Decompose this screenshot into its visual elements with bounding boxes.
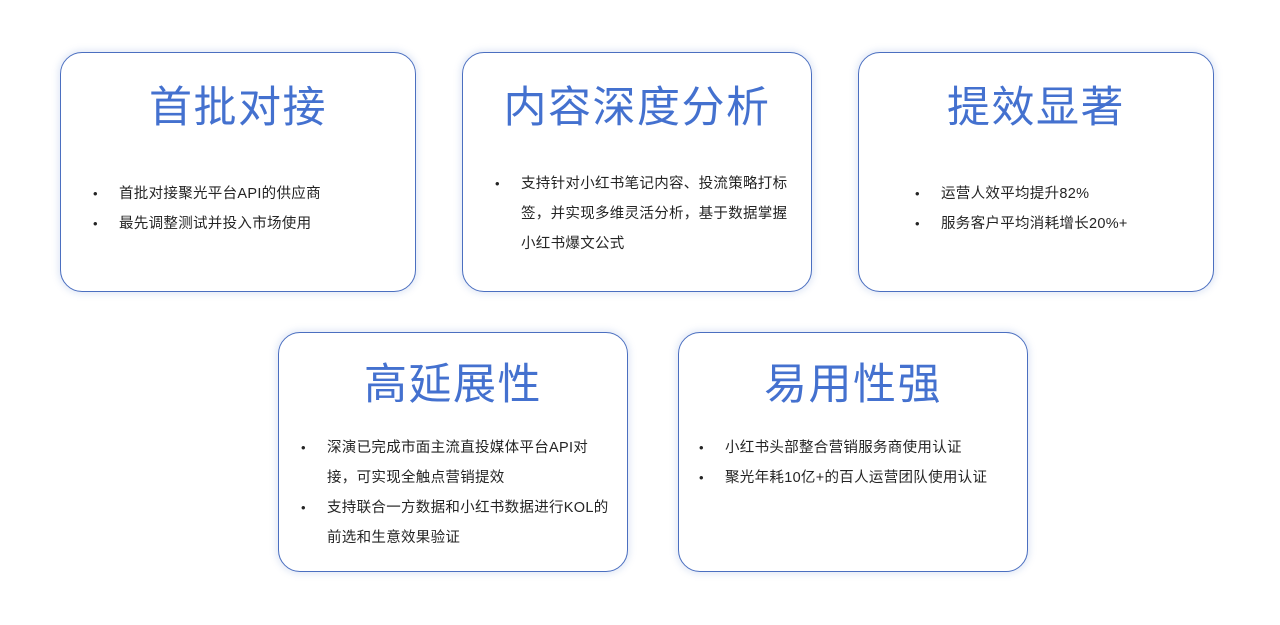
- list-item: 小红书头部整合营销服务商使用认证: [695, 433, 1015, 463]
- list-item: 最先调整测试并投入市场使用: [89, 209, 395, 239]
- feature-card-first-integration[interactable]: 首批对接 首批对接聚光平台API的供应商 最先调整测试并投入市场使用: [60, 52, 416, 292]
- card-bullet-list: 运营人效平均提升82% 服务客户平均消耗增长20%+: [911, 179, 1197, 239]
- card-title: 高延展性: [279, 363, 627, 408]
- card-bullet-list: 小红书头部整合营销服务商使用认证 聚光年耗10亿+的百人运营团队使用认证: [695, 433, 1015, 493]
- card-title: 首批对接: [61, 86, 415, 131]
- card-title: 内容深度分析: [463, 86, 811, 131]
- feature-card-efficiency-gain[interactable]: 提效显著 运营人效平均提升82% 服务客户平均消耗增长20%+: [858, 52, 1214, 292]
- list-item: 运营人效平均提升82%: [911, 179, 1197, 209]
- feature-card-ease-of-use[interactable]: 易用性强 小红书头部整合营销服务商使用认证 聚光年耗10亿+的百人运营团队使用认…: [678, 332, 1028, 572]
- card-bullet-list: 深演已完成市面主流直投媒体平台API对接，可实现全触点营销提效 支持联合一方数据…: [297, 433, 615, 553]
- card-title: 易用性强: [679, 363, 1027, 408]
- feature-card-content-depth-analysis[interactable]: 内容深度分析 支持针对小红书笔记内容、投流策略打标签，并实现多维灵活分析，基于数…: [462, 52, 812, 292]
- list-item: 服务客户平均消耗增长20%+: [911, 209, 1197, 239]
- slide-canvas: 首批对接 首批对接聚光平台API的供应商 最先调整测试并投入市场使用 内容深度分…: [0, 0, 1280, 625]
- list-item: 聚光年耗10亿+的百人运营团队使用认证: [695, 463, 1015, 493]
- feature-card-high-extensibility[interactable]: 高延展性 深演已完成市面主流直投媒体平台API对接，可实现全触点营销提效 支持联…: [278, 332, 628, 572]
- list-item: 首批对接聚光平台API的供应商: [89, 179, 395, 209]
- card-title: 提效显著: [859, 86, 1213, 131]
- list-item: 深演已完成市面主流直投媒体平台API对接，可实现全触点营销提效: [297, 433, 615, 493]
- list-item: 支持联合一方数据和小红书数据进行KOL的前选和生意效果验证: [297, 493, 615, 553]
- card-bullet-list: 首批对接聚光平台API的供应商 最先调整测试并投入市场使用: [89, 179, 395, 239]
- card-bullet-list: 支持针对小红书笔记内容、投流策略打标签，并实现多维灵活分析，基于数据掌握小红书爆…: [491, 169, 795, 259]
- list-item: 支持针对小红书笔记内容、投流策略打标签，并实现多维灵活分析，基于数据掌握小红书爆…: [491, 169, 795, 259]
